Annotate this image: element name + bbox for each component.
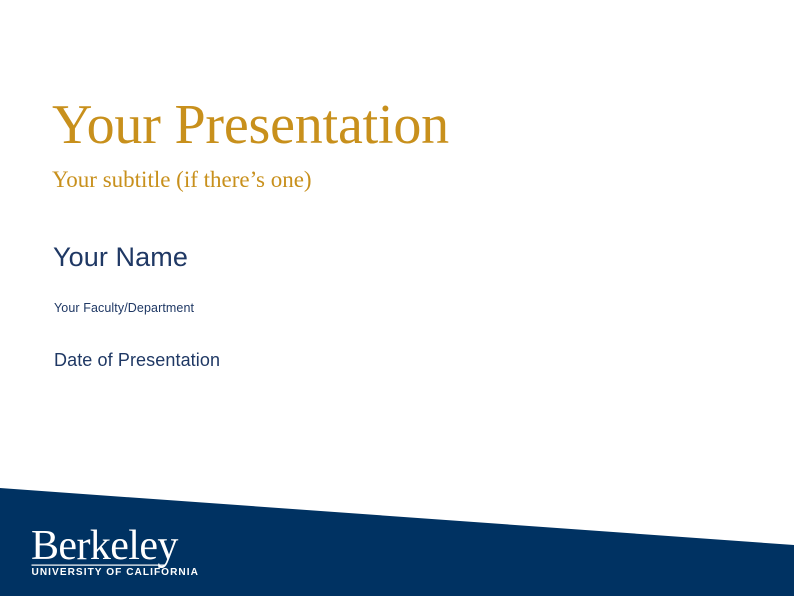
navy-diagonal-banner [0,0,794,596]
berkeley-wordmark-text: Berkeley [31,523,178,569]
banner-shape [0,0,794,596]
title-block: Your Presentation Your subtitle (if ther… [52,96,752,193]
berkeley-tagline-text: UNIVERSITY OF CALIFORNIA [32,567,199,578]
logo-divider-rule [32,565,165,566]
page-title: Your Presentation [52,96,752,154]
presenter-name: Your Name [53,242,188,273]
berkeley-logo-svg: Berkeley UNIVERSITY OF CALIFORNIA [31,524,183,582]
page-subtitle: Your subtitle (if there’s one) [52,167,752,192]
presentation-date: Date of Presentation [54,350,220,371]
presenter-department: Your Faculty/Department [54,301,194,315]
presentation-title-slide: Your Presentation Your subtitle (if ther… [0,0,794,596]
berkeley-logo: Berkeley UNIVERSITY OF CALIFORNIA [31,524,191,582]
